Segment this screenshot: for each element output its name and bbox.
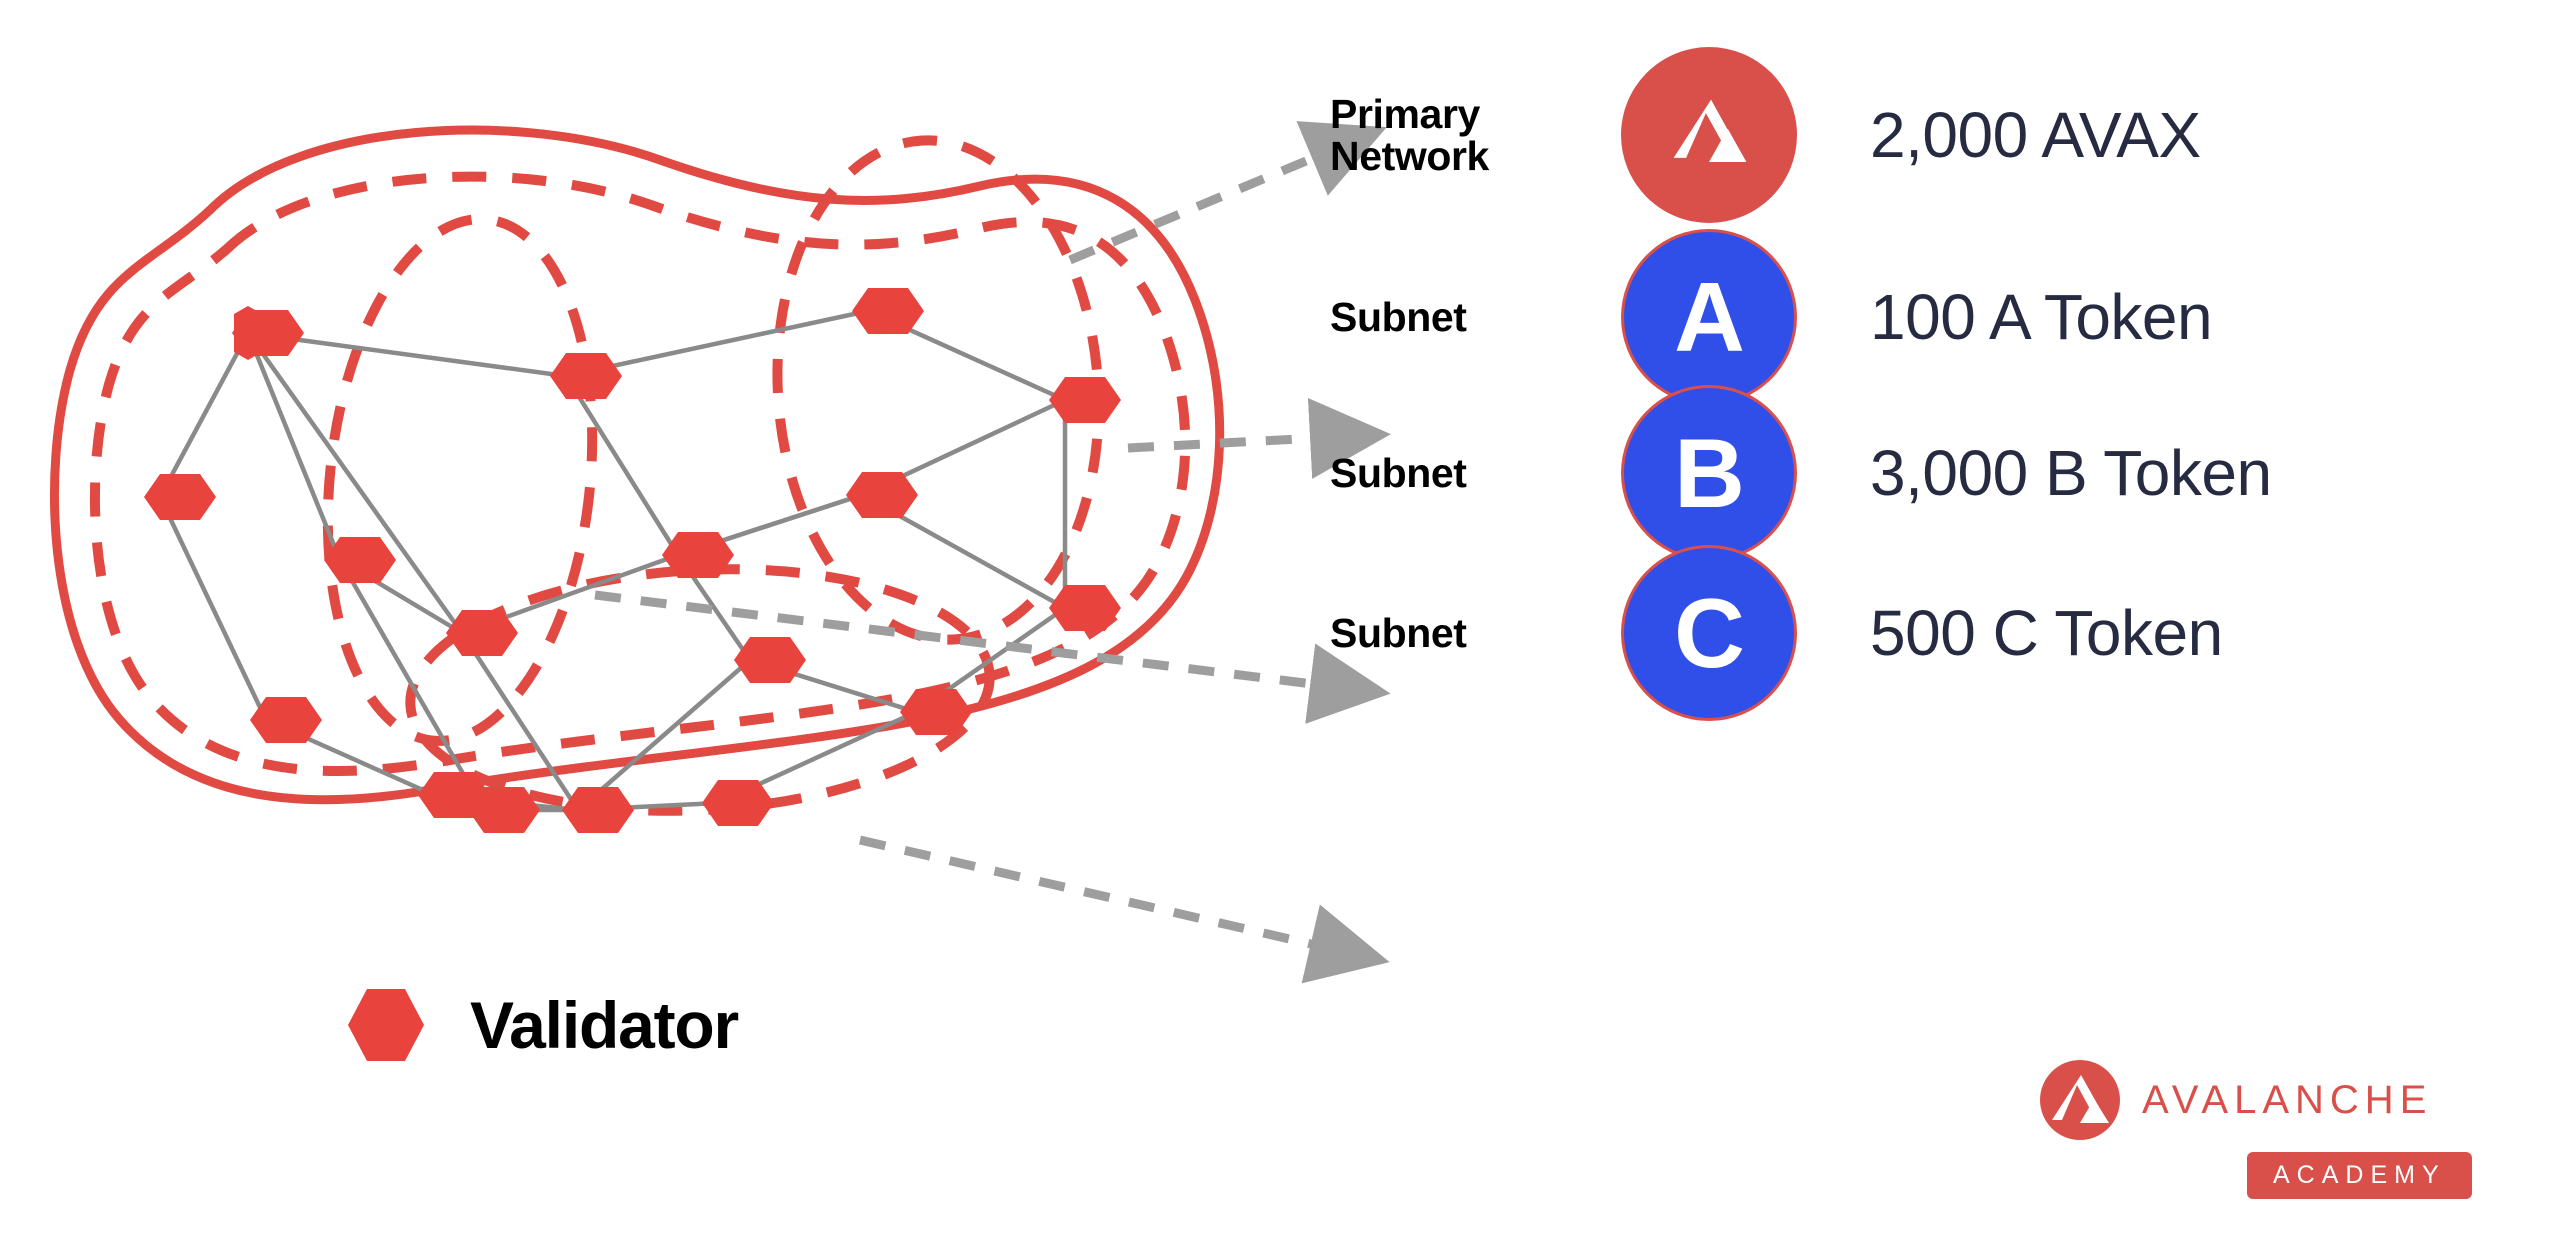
- subnet-a-letter: A: [1674, 268, 1744, 366]
- subnet-a-circle: A: [1621, 229, 1797, 405]
- leader-subnet-c: [860, 840, 1337, 950]
- row-label-line1: Subnet: [1330, 296, 1620, 338]
- leader-subnet-a: [1128, 437, 1337, 448]
- logo-academy-text: ACADEMY: [2273, 1161, 2446, 1189]
- subnet-b-letter: B: [1674, 424, 1744, 522]
- logo-top-row: AVALANCHE: [2040, 1060, 2510, 1140]
- validator-node: [846, 472, 918, 518]
- row-label-line2: Network: [1330, 135, 1620, 177]
- legend-row-subnet-a: Subnet A 100 A Token: [1330, 232, 2558, 402]
- amount-subnet-b: 3,000 B Token: [1870, 436, 2272, 510]
- subnet-c-boundary: [404, 555, 996, 825]
- avalanche-mark-icon: [2040, 1060, 2120, 1140]
- avax-logo-circle: [1621, 47, 1797, 223]
- legend-row-primary-network: Primary Network 2,000 AVAX: [1330, 50, 2558, 220]
- validator-legend-label: Validator: [470, 987, 738, 1063]
- primary-network-boundary: [54, 130, 1219, 800]
- hexagon-icon: [348, 985, 424, 1065]
- avalanche-academy-logo: AVALANCHE ACADEMY: [2040, 1060, 2510, 1190]
- row-label-subnet-c: Subnet: [1330, 612, 1620, 654]
- validator-node: [1049, 377, 1121, 423]
- badge-subnet-a: A: [1620, 229, 1798, 405]
- subnet-c-letter: C: [1674, 584, 1744, 682]
- badge-subnet-c: C: [1620, 545, 1798, 721]
- legend-row-subnet-c: Subnet C 500 C Token: [1330, 548, 2558, 718]
- validator-node: [702, 780, 774, 826]
- leader-subnet-b: [595, 595, 1337, 687]
- validator-node: [852, 288, 924, 334]
- subnet-b-circle: B: [1621, 385, 1797, 561]
- subnet-c-circle: C: [1621, 545, 1797, 721]
- row-label-line1: Primary: [1330, 93, 1620, 135]
- logo-academy-badge: ACADEMY: [2247, 1152, 2472, 1199]
- logo-wordmark: AVALANCHE: [2142, 1078, 2432, 1123]
- badge-subnet-b: B: [1620, 385, 1798, 561]
- validator-node: [144, 474, 216, 520]
- diagram-root: Primary Network 2,000 AVAX Subnet A: [0, 0, 2558, 1258]
- row-label-subnet-a: Subnet: [1330, 296, 1620, 338]
- row-label-primary-network: Primary Network: [1330, 93, 1620, 177]
- amount-subnet-a: 100 A Token: [1870, 280, 2212, 354]
- validator-nodes: [144, 288, 1121, 833]
- row-label-line1: Subnet: [1330, 452, 1620, 494]
- row-label-subnet-b: Subnet: [1330, 452, 1620, 494]
- badge-avax: [1620, 47, 1798, 223]
- validator-node: [550, 353, 622, 399]
- amount-subnet-c: 500 C Token: [1870, 596, 2223, 670]
- primary-network-dashed-halo: [95, 177, 1185, 771]
- leader-primary-network: [1070, 148, 1337, 260]
- amount-primary-network: 2,000 AVAX: [1870, 98, 2201, 172]
- validator-node: [562, 787, 634, 833]
- legend-row-subnet-b: Subnet B 3,000 B Token: [1330, 388, 2558, 558]
- validator-legend: Validator: [348, 985, 738, 1065]
- row-label-line1: Subnet: [1330, 612, 1620, 654]
- avax-mark-icon: [1657, 83, 1761, 187]
